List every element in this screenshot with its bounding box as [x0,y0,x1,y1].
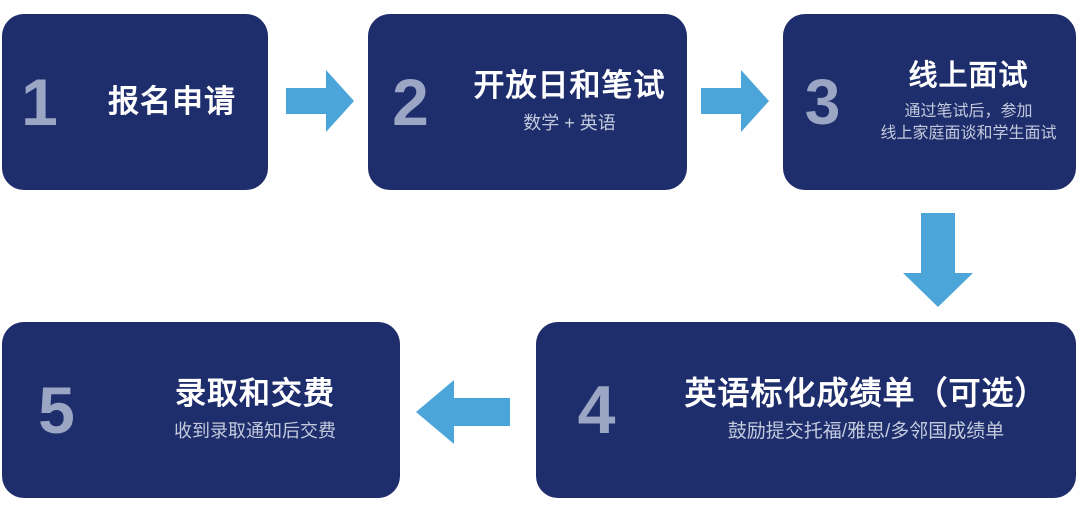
step-text-column-4: 英语标化成绩单（可选） 鼓励提交托福/雅思/多邻国成绩单 [656,375,1076,446]
step-number-4: 4 [536,376,656,444]
step-subtitle-2: 数学 + 英语 [523,111,616,136]
step-number-1: 1 [2,69,76,135]
step-subtitle-3-line-1: 通过笔试后，参加 [880,101,1056,123]
step-subtitle-3-line-2: 线上家庭面谈和学生面试 [880,123,1056,145]
flow-step-card-5[interactable]: 5 录取和交费 收到录取通知后交费 [2,322,400,498]
step-text-column-5: 录取和交费 收到录取通知后交费 [110,376,400,444]
step-number-2: 2 [368,69,452,135]
arrow-step3-to-step4-icon [903,213,973,307]
arrow-step2-to-step3-icon [701,70,769,132]
step-number-5: 5 [2,377,110,443]
step-subtitle-3: 通过笔试后，参加 线上家庭面谈和学生面试 [880,101,1056,145]
step-subtitle-5-line-1: 收到录取通知后交费 [174,419,336,444]
flowchart-canvas: 1 报名申请 2 开放日和笔试 数学 + 英语 3 线上面试 通过笔试后，参加 … [0,0,1080,520]
step-number-3: 3 [783,70,861,134]
step-subtitle-2-line-1: 数学 + 英语 [523,111,616,136]
flow-step-card-1[interactable]: 1 报名申请 [2,14,268,190]
step-subtitle-5: 收到录取通知后交费 [174,419,336,444]
arrow-step4-to-step5-icon [416,380,510,444]
step-subtitle-4: 鼓励提交托福/雅思/多邻国成绩单 [728,419,1005,445]
step-text-column-2: 开放日和笔试 数学 + 英语 [452,68,687,136]
step-title-1: 报名申请 [108,84,236,121]
flow-step-card-3[interactable]: 3 线上面试 通过笔试后，参加 线上家庭面谈和学生面试 [783,14,1076,190]
step-title-5: 录取和交费 [175,376,335,413]
step-title-4: 英语标化成绩单（可选） [684,375,1047,413]
step-subtitle-4-line-1: 鼓励提交托福/雅思/多邻国成绩单 [728,419,1005,445]
step-text-column-3: 线上面试 通过笔试后，参加 线上家庭面谈和学生面试 [861,59,1076,144]
step-title-2: 开放日和笔试 [474,68,666,105]
flow-step-card-2[interactable]: 2 开放日和笔试 数学 + 英语 [368,14,687,190]
arrow-step1-to-step2-icon [286,70,354,132]
step-text-column-1: 报名申请 [76,84,268,121]
step-title-3: 线上面试 [908,59,1028,93]
flow-step-card-4[interactable]: 4 英语标化成绩单（可选） 鼓励提交托福/雅思/多邻国成绩单 [536,322,1076,498]
